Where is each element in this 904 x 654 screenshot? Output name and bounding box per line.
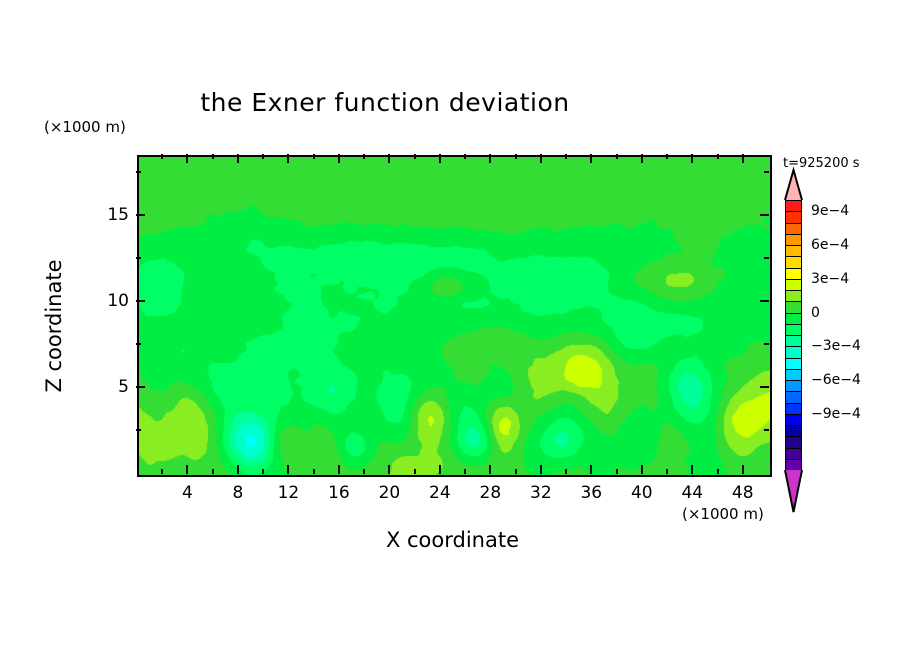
x-axis-unit-label: (×1000 m) <box>682 505 764 523</box>
x-tick-major <box>388 465 390 474</box>
y-tick-minor <box>764 343 769 345</box>
x-tick-major <box>641 465 643 474</box>
y-axis-title: Z coordinate <box>42 216 66 436</box>
colorbar-tick-label: 9e−4 <box>811 203 849 219</box>
x-tick-major <box>742 465 744 474</box>
x-tick-label: 24 <box>429 483 451 503</box>
x-tick-minor <box>565 469 567 474</box>
colorbar-tick-label: 0 <box>811 305 820 321</box>
x-tick-major <box>439 154 441 163</box>
y-tick-major <box>136 386 145 388</box>
x-tick-minor <box>515 154 517 159</box>
y-tick-major <box>136 214 145 216</box>
colorbar-tick-label: −6e−4 <box>811 372 861 388</box>
y-tick-minor <box>136 429 141 431</box>
colorbar[interactable] <box>785 200 802 470</box>
page-title: the Exner function deviation <box>0 88 770 117</box>
x-tick-major <box>590 465 592 474</box>
x-tick-minor <box>363 469 365 474</box>
x-tick-minor <box>515 469 517 474</box>
x-tick-minor <box>262 469 264 474</box>
x-tick-minor <box>313 154 315 159</box>
x-tick-major <box>590 154 592 163</box>
x-tick-major <box>388 154 390 163</box>
y-tick-major <box>760 214 769 216</box>
x-tick-major <box>489 465 491 474</box>
x-tick-major <box>186 465 188 474</box>
x-tick-minor <box>666 469 668 474</box>
x-tick-major <box>237 465 239 474</box>
x-tick-major <box>489 154 491 163</box>
y-tick-label: 5 <box>85 377 129 397</box>
x-tick-major <box>691 465 693 474</box>
x-tick-minor <box>464 469 466 474</box>
y-tick-minor <box>136 343 141 345</box>
x-tick-minor <box>666 154 668 159</box>
x-tick-label: 40 <box>631 483 653 503</box>
x-tick-minor <box>616 469 618 474</box>
y-tick-minor <box>136 257 141 259</box>
x-tick-major <box>540 465 542 474</box>
colorbar-tick-label: −3e−4 <box>811 338 861 354</box>
x-tick-label: 8 <box>233 483 244 503</box>
x-tick-major <box>742 154 744 163</box>
contour-field <box>139 157 770 475</box>
x-tick-minor <box>414 469 416 474</box>
x-tick-major <box>287 465 289 474</box>
colorbar-tick-label: 6e−4 <box>811 237 849 253</box>
x-tick-label: 48 <box>732 483 754 503</box>
x-tick-minor <box>262 154 264 159</box>
x-tick-major <box>287 154 289 163</box>
x-tick-major <box>338 154 340 163</box>
x-tick-minor <box>565 154 567 159</box>
y-tick-major <box>760 300 769 302</box>
y-tick-major <box>760 386 769 388</box>
x-tick-minor <box>717 469 719 474</box>
x-tick-label: 28 <box>480 483 502 503</box>
x-tick-major <box>691 154 693 163</box>
x-tick-label: 44 <box>681 483 703 503</box>
x-tick-minor <box>313 469 315 474</box>
x-tick-label: 32 <box>530 483 552 503</box>
y-tick-minor <box>764 171 769 173</box>
x-tick-minor <box>464 154 466 159</box>
colorbar-tick-label: 3e−4 <box>811 271 849 287</box>
y-tick-minor <box>136 171 141 173</box>
x-tick-minor <box>212 154 214 159</box>
y-tick-label: 15 <box>85 205 129 225</box>
y-tick-major <box>136 300 145 302</box>
y-tick-minor <box>764 257 769 259</box>
x-tick-minor <box>161 154 163 159</box>
z-axis-unit-label: (×1000 m) <box>44 118 126 136</box>
x-tick-major <box>439 465 441 474</box>
x-tick-major <box>338 465 340 474</box>
x-tick-label: 20 <box>379 483 401 503</box>
x-tick-minor <box>616 154 618 159</box>
y-tick-minor <box>764 429 769 431</box>
x-tick-label: 16 <box>328 483 350 503</box>
colorbar-tick-label: −9e−4 <box>811 406 861 422</box>
y-tick-label: 10 <box>85 291 129 311</box>
x-axis-title: X coordinate <box>137 528 768 552</box>
colorbar-cap-bottom-outline <box>784 469 803 513</box>
colorbar-cap-top-outline <box>784 169 803 201</box>
contour-plot-area[interactable] <box>137 155 772 477</box>
x-tick-minor <box>161 469 163 474</box>
x-tick-label: 12 <box>278 483 300 503</box>
x-tick-minor <box>212 469 214 474</box>
x-tick-major <box>237 154 239 163</box>
x-tick-major <box>186 154 188 163</box>
x-tick-minor <box>414 154 416 159</box>
figure-root: the Exner function deviation (×1000 m) (… <box>0 0 904 654</box>
x-tick-label: 36 <box>580 483 602 503</box>
x-tick-major <box>540 154 542 163</box>
x-tick-label: 4 <box>182 483 193 503</box>
x-tick-major <box>641 154 643 163</box>
x-tick-minor <box>363 154 365 159</box>
x-tick-minor <box>717 154 719 159</box>
